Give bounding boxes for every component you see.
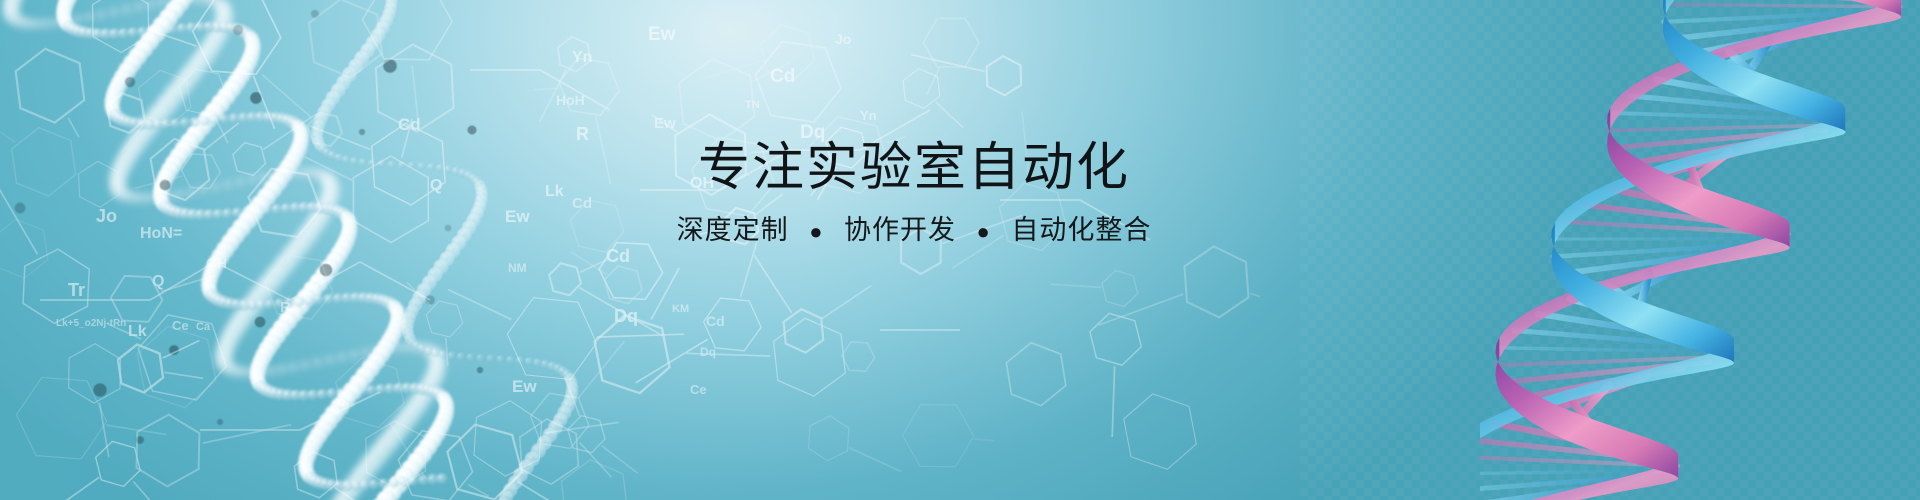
svg-text:Cd: Cd	[706, 313, 725, 329]
svg-text:Ce: Ce	[172, 318, 189, 333]
svg-text:NM: NM	[508, 261, 527, 275]
chemical-structure-overlay: EwYnCdJoHoHCdREwDqTNLkCdEwJoHoN=GHNMCdTr…	[0, 0, 1260, 500]
svg-text:Jo: Jo	[96, 206, 117, 226]
svg-text:TN: TN	[336, 398, 349, 409]
bullet-separator-icon: ●	[977, 219, 991, 245]
svg-text:Q: Q	[430, 177, 442, 194]
svg-text:Cd: Cd	[606, 246, 630, 266]
hero-subtitle: 深度定制 ● 协作开发 ● 自动化整合	[604, 214, 1224, 246]
svg-text:Yn: Yn	[572, 49, 592, 66]
svg-text:Ew: Ew	[505, 207, 530, 226]
svg-text:Ew: Ew	[648, 24, 676, 45]
page-title: 专注实验室自动化	[604, 140, 1224, 196]
colored-dna-helix-graphic	[1480, 0, 1920, 500]
svg-text:Lk: Lk	[128, 323, 147, 340]
hero-banner: EwYnCdJoHoHCdREwDqTNLkCdEwJoHoN=GHNMCdTr…	[0, 0, 1920, 500]
bullet-separator-icon: ●	[809, 219, 823, 245]
svg-text:KM: KM	[672, 303, 689, 315]
subtitle-segment-2: 协作开发	[844, 215, 956, 245]
svg-text:Ce: Ce	[690, 382, 707, 397]
svg-text:R: R	[280, 299, 291, 316]
svg-text:Q: Q	[152, 273, 164, 290]
svg-text:Dq: Dq	[614, 306, 638, 326]
svg-text:TN: TN	[745, 99, 760, 111]
subtitle-segment-1: 深度定制	[677, 215, 789, 245]
svg-text:Cd: Cd	[398, 115, 421, 134]
svg-text:GH: GH	[206, 255, 227, 271]
svg-text:Lk: Lk	[545, 183, 564, 200]
subtitle-segment-3: 自动化整合	[1011, 215, 1151, 245]
svg-text:Ew: Ew	[512, 377, 537, 396]
svg-text:HoN=: HoN=	[140, 225, 182, 242]
svg-text:Jo: Jo	[835, 31, 851, 47]
svg-text:Ca: Ca	[196, 321, 211, 333]
svg-text:Yn: Yn	[860, 108, 877, 123]
svg-text:Tr: Tr	[68, 280, 85, 300]
hero-copy: 专注实验室自动化 深度定制 ● 协作开发 ● 自动化整合	[604, 140, 1224, 247]
svg-text:HoH: HoH	[556, 92, 585, 108]
svg-text:R: R	[576, 124, 589, 144]
svg-text:Ew: Ew	[654, 115, 676, 132]
svg-text:Lk+5_o2Nj-tRn: Lk+5_o2Nj-tRn	[56, 318, 126, 329]
svg-text:Dq: Dq	[700, 345, 716, 359]
svg-text:Cd: Cd	[770, 66, 795, 87]
svg-text:Cd: Cd	[572, 195, 592, 212]
